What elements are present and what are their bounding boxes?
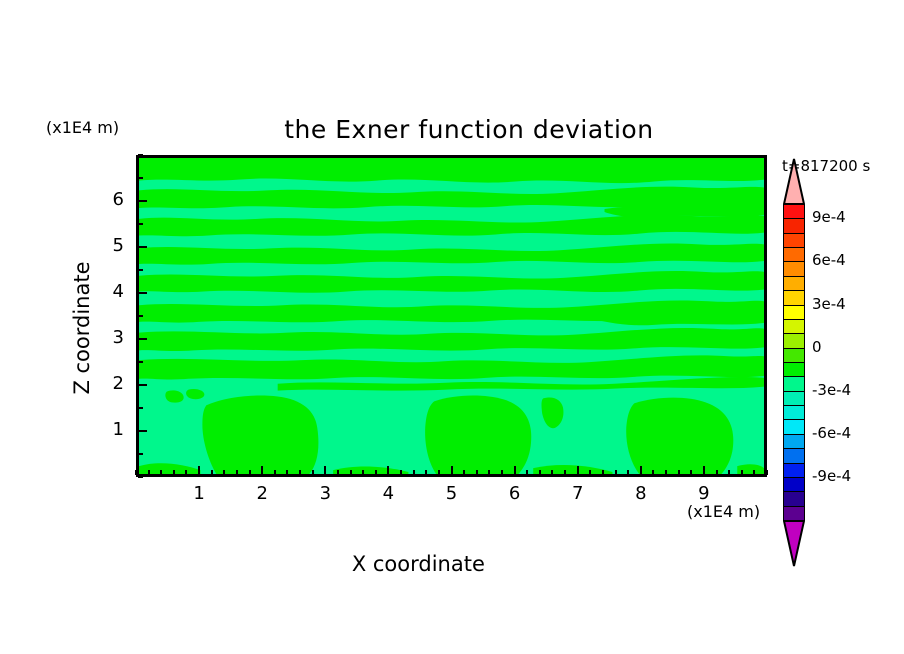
colorbar-under-arrow xyxy=(783,520,805,567)
x-tick-minor xyxy=(463,470,465,475)
y-tick-label: 3 xyxy=(94,327,124,348)
x-tick-minor xyxy=(400,470,402,475)
y-tick-minor xyxy=(138,154,143,156)
y-tick-major xyxy=(138,338,147,340)
x-tick-minor xyxy=(728,470,730,475)
x-tick-minor xyxy=(627,470,629,475)
y-tick-label: 4 xyxy=(94,281,124,302)
x-tick-minor xyxy=(501,470,503,475)
x-tick-minor xyxy=(766,470,768,475)
x-tick-minor xyxy=(312,470,314,475)
x-tick-major xyxy=(703,466,705,475)
y-axis-unit-label: (x1E4 m) xyxy=(46,118,119,137)
x-tick-minor xyxy=(425,470,427,475)
y-tick-minor xyxy=(138,269,143,271)
y-tick-minor xyxy=(138,407,143,409)
x-tick-label: 1 xyxy=(184,483,214,504)
x-tick-minor xyxy=(741,470,743,475)
colorbar-tick-label: -6e-4 xyxy=(812,424,851,442)
colorbar-tick-label: -9e-4 xyxy=(812,467,851,485)
x-tick-minor xyxy=(753,470,755,475)
x-tick-minor xyxy=(602,470,604,475)
colorbar-tick-label: 0 xyxy=(812,338,822,356)
x-tick-major xyxy=(577,466,579,475)
x-tick-minor xyxy=(551,470,553,475)
plot-area xyxy=(136,155,767,477)
x-tick-label: 5 xyxy=(437,483,467,504)
x-tick-minor xyxy=(615,470,617,475)
colorbar-tick-label: 3e-4 xyxy=(812,295,846,313)
y-tick-minor xyxy=(138,361,143,363)
x-tick-minor xyxy=(274,470,276,475)
y-tick-minor xyxy=(138,177,143,179)
y-tick-minor xyxy=(138,453,143,455)
x-tick-minor xyxy=(211,470,213,475)
x-tick-minor xyxy=(678,470,680,475)
contour-field xyxy=(139,158,764,474)
x-tick-minor xyxy=(160,470,162,475)
x-tick-minor xyxy=(716,470,718,475)
x-axis-title: X coordinate xyxy=(0,528,904,600)
y-tick-minor xyxy=(138,476,143,478)
x-tick-minor xyxy=(337,470,339,475)
x-tick-minor xyxy=(135,470,137,475)
x-tick-minor xyxy=(173,470,175,475)
x-tick-minor xyxy=(413,470,415,475)
x-tick-minor xyxy=(249,470,251,475)
x-tick-minor xyxy=(564,470,566,475)
x-tick-minor xyxy=(652,470,654,475)
x-tick-label: 9 xyxy=(689,483,719,504)
y-tick-major xyxy=(138,246,147,248)
x-tick-label: 4 xyxy=(373,483,403,504)
y-tick-label: 5 xyxy=(94,235,124,256)
x-tick-major xyxy=(640,466,642,475)
x-tick-label: 2 xyxy=(247,483,277,504)
x-tick-minor xyxy=(286,470,288,475)
x-axis-title-text: X coordinate xyxy=(352,552,485,576)
y-tick-label: 1 xyxy=(94,419,124,440)
x-tick-minor xyxy=(539,470,541,475)
colorbar-tick-label: 9e-4 xyxy=(812,208,846,226)
colorbar-over-arrow xyxy=(783,158,805,205)
x-tick-minor xyxy=(362,470,364,475)
x-tick-minor xyxy=(375,470,377,475)
x-tick-minor xyxy=(488,470,490,475)
x-axis-unit-label: (x1E4 m) xyxy=(687,502,760,521)
x-tick-major xyxy=(451,466,453,475)
x-tick-minor xyxy=(350,470,352,475)
y-tick-major xyxy=(138,430,147,432)
x-tick-minor xyxy=(665,470,667,475)
x-tick-label: 7 xyxy=(563,483,593,504)
y-tick-major xyxy=(138,292,147,294)
x-tick-minor xyxy=(690,470,692,475)
x-tick-major xyxy=(261,466,263,475)
y-tick-label: 6 xyxy=(94,189,124,210)
y-tick-major xyxy=(138,200,147,202)
x-tick-major xyxy=(324,466,326,475)
y-axis-title: Z coordinate xyxy=(70,228,94,428)
x-tick-minor xyxy=(438,470,440,475)
figure-canvas: the Exner function deviation (x1E4 m) xyxy=(0,0,904,654)
x-tick-minor xyxy=(236,470,238,475)
x-tick-minor xyxy=(526,470,528,475)
x-tick-label: 3 xyxy=(310,483,340,504)
x-tick-label: 8 xyxy=(626,483,656,504)
colorbar[interactable] xyxy=(783,204,805,520)
x-tick-minor xyxy=(589,470,591,475)
x-tick-minor xyxy=(223,470,225,475)
y-tick-major xyxy=(138,384,147,386)
colorbar-tick-label: -3e-4 xyxy=(812,381,851,399)
x-tick-label: 6 xyxy=(500,483,530,504)
chart-title-text: the Exner function deviation xyxy=(284,115,653,144)
y-tick-minor xyxy=(138,223,143,225)
x-tick-major xyxy=(514,466,516,475)
x-tick-minor xyxy=(476,470,478,475)
x-tick-minor xyxy=(148,470,150,475)
colorbar-tick-label: 6e-4 xyxy=(812,251,846,269)
x-tick-major xyxy=(198,466,200,475)
x-tick-minor xyxy=(185,470,187,475)
y-tick-minor xyxy=(138,315,143,317)
x-tick-minor xyxy=(299,470,301,475)
x-tick-major xyxy=(387,466,389,475)
y-tick-label: 2 xyxy=(94,373,124,394)
